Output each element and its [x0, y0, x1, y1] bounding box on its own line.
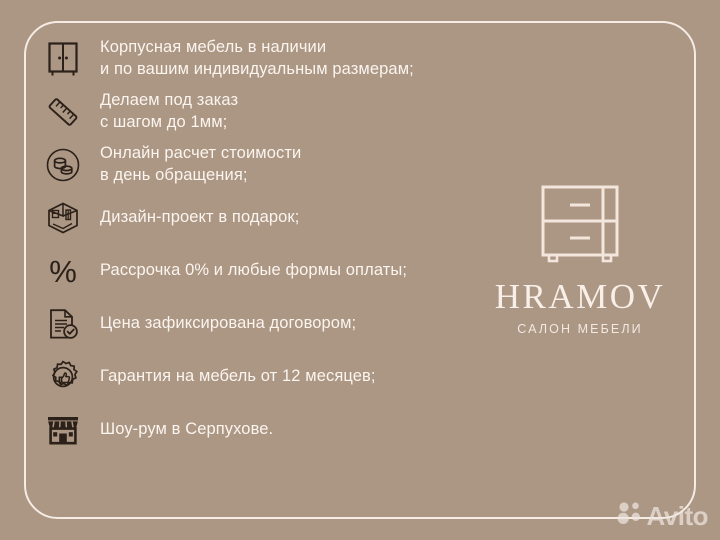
feature-list: Корпусная мебель в наличии и по вашим ин… [40, 34, 510, 458]
logo-subtitle: САЛОН МЕБЕЛИ [487, 323, 673, 336]
avito-dots-icon [617, 501, 643, 530]
list-item: Корпусная мебель в наличии и по вашим ин… [40, 34, 510, 84]
storefront-icon [40, 407, 86, 453]
percent-glyph: % [49, 256, 77, 287]
list-item: Делаем под заказ с шагом до 1мм; [40, 87, 510, 137]
list-item-label: Рассрочка 0% и любые формы оплаты; [100, 260, 407, 282]
list-item-label: Шоу-рум в Серпухове. [100, 419, 273, 441]
ruler-icon [40, 89, 86, 135]
list-item-label: Корпусная мебель в наличии и по вашим ин… [100, 37, 414, 81]
coins-circle-icon [40, 142, 86, 188]
list-item: % Рассрочка 0% и любые формы оплаты; [40, 246, 510, 296]
list-item-label: Гарантия на мебель от 12 месяцев; [100, 366, 376, 388]
list-item: Гарантия на мебель от 12 месяцев; [40, 352, 510, 402]
percent-icon: % [40, 248, 86, 294]
design-project-icon [40, 195, 86, 241]
thumbs-up-badge-icon [40, 354, 86, 400]
list-item: Дизайн-проект в подарок; [40, 193, 510, 243]
brand-logo: HRAMOV САЛОН МЕБЕЛИ [487, 181, 673, 336]
wardrobe-icon [40, 36, 86, 82]
list-item-label: Дизайн-проект в подарок; [100, 207, 299, 229]
list-item: Цена зафиксирована договором; [40, 299, 510, 349]
avito-wordmark: Avito [646, 503, 708, 529]
list-item-label: Онлайн расчет стоимости в день обращения… [100, 143, 301, 187]
logo-name: HRAMOV [487, 279, 673, 314]
list-item: Шоу-рум в Серпухове. [40, 405, 510, 455]
contract-check-icon [40, 301, 86, 347]
avito-watermark: Avito [617, 501, 708, 530]
list-item-label: Цена зафиксирована договором; [100, 313, 356, 335]
promo-banner: Корпусная мебель в наличии и по вашим ин… [0, 0, 720, 540]
list-item-label: Делаем под заказ с шагом до 1мм; [100, 90, 238, 134]
list-item: Онлайн расчет стоимости в день обращения… [40, 140, 510, 190]
dresser-icon [487, 181, 673, 269]
